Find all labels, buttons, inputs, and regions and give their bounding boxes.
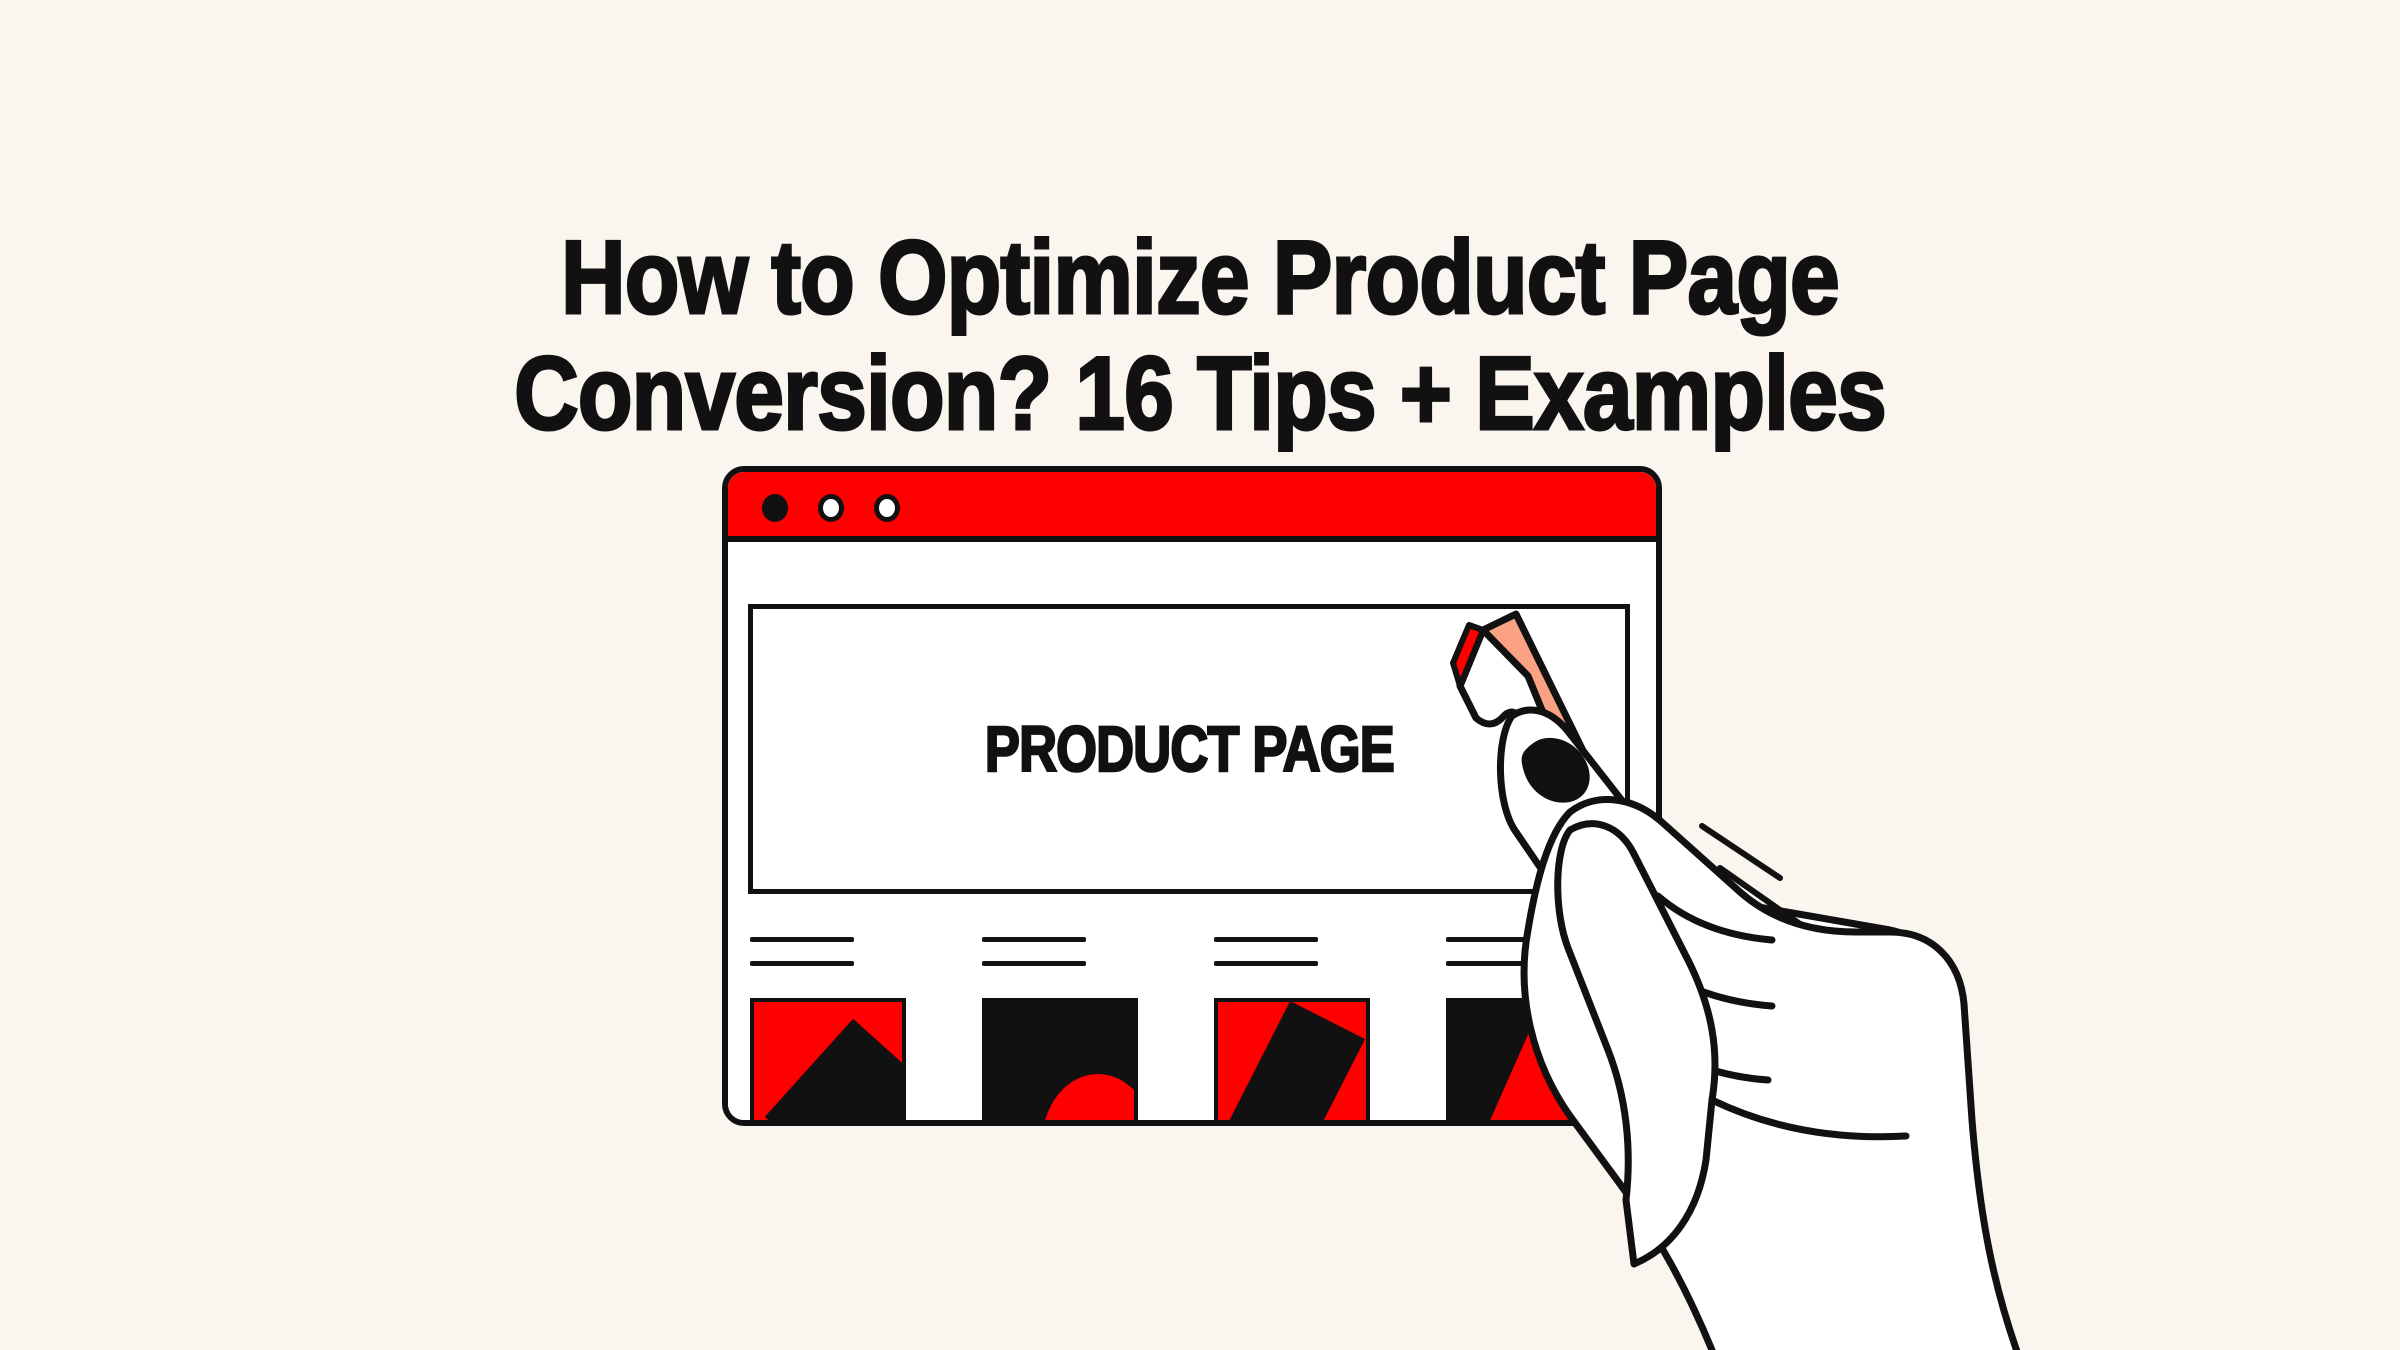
product-tile-4[interactable] — [1446, 937, 1602, 1126]
tile-text-line-top — [750, 937, 854, 942]
hero-banner: PRODUCT PAGE — [748, 604, 1630, 894]
tile-text-line-bottom — [1214, 961, 1318, 966]
knuckle-line-2 — [1720, 868, 1800, 924]
tile-image-2 — [982, 998, 1138, 1126]
tile-image-3 — [1214, 998, 1370, 1126]
product-tiles-row — [750, 937, 1650, 1126]
circle-shape-icon — [1042, 1074, 1138, 1126]
tile-text-line-bottom — [1446, 961, 1550, 966]
finger-crease-1 — [1658, 896, 1772, 940]
wrist-crease — [1712, 1100, 1906, 1137]
minimize-dot-icon[interactable] — [818, 494, 844, 522]
rotated-rectangle-shape-icon — [1223, 1001, 1365, 1126]
tile-text-line-bottom — [750, 961, 854, 966]
knuckle-line-1 — [1702, 826, 1780, 878]
page-title-line-1: How to Optimize Product Page — [168, 220, 2232, 336]
page-title: How to Optimize Product Page Conversion?… — [168, 220, 2232, 453]
hero-illustration-canvas: How to Optimize Product Page Conversion?… — [0, 0, 2400, 1350]
tile-text-line-bottom — [982, 961, 1086, 966]
triangle-shape-icon — [1450, 1002, 1602, 1126]
tile-text-line-top — [1214, 937, 1318, 942]
product-tile-1[interactable] — [750, 937, 906, 1126]
diamond-shape-icon — [765, 1019, 906, 1126]
pencil-ferrule — [1720, 958, 1802, 1052]
maximize-dot-icon[interactable] — [874, 494, 900, 522]
tile-image-4 — [1446, 998, 1602, 1126]
browser-titlebar — [728, 472, 1656, 542]
tile-text-line-top — [1446, 937, 1550, 942]
close-dot-icon[interactable] — [762, 494, 788, 522]
browser-window-mockup: PRODUCT PAGE — [722, 466, 1662, 1126]
product-tile-2[interactable] — [982, 937, 1138, 1126]
page-title-line-2: Conversion? 16 Tips + Examples — [168, 336, 2232, 452]
tile-image-1 — [750, 998, 906, 1126]
hero-heading: PRODUCT PAGE — [984, 712, 1393, 786]
product-tile-3[interactable] — [1214, 937, 1370, 1126]
tile-text-line-top — [982, 937, 1086, 942]
browser-viewport: PRODUCT PAGE — [728, 542, 1656, 1120]
